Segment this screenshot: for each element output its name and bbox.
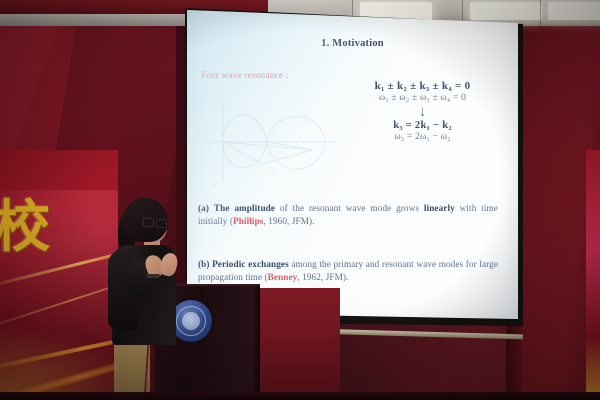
projection-screen: 1. Motivation Four wave resonance : — [187, 8, 518, 323]
floor — [0, 392, 600, 400]
event-banner-left — [0, 150, 118, 400]
speaker-wristband — [146, 274, 160, 278]
podium-side-edge — [250, 286, 260, 400]
ceiling-grid-line-3 — [540, 0, 541, 26]
banner-strip-right — [586, 150, 600, 400]
speaker-glasses-left-lens-icon — [143, 218, 154, 227]
wall-behind-podium — [258, 288, 340, 400]
banner-chinese-character: 校 — [0, 200, 50, 256]
lecture-photo-scene: 校 1. Motivation Four wave resonance : — [0, 0, 600, 400]
ceiling-light-2 — [470, 2, 542, 20]
seal-center — [182, 312, 200, 330]
university-seal-icon — [170, 300, 212, 342]
screen-glare — [187, 8, 518, 323]
ceiling-light-3 — [548, 2, 600, 20]
speaker-glasses-right-lens-icon — [156, 219, 167, 228]
